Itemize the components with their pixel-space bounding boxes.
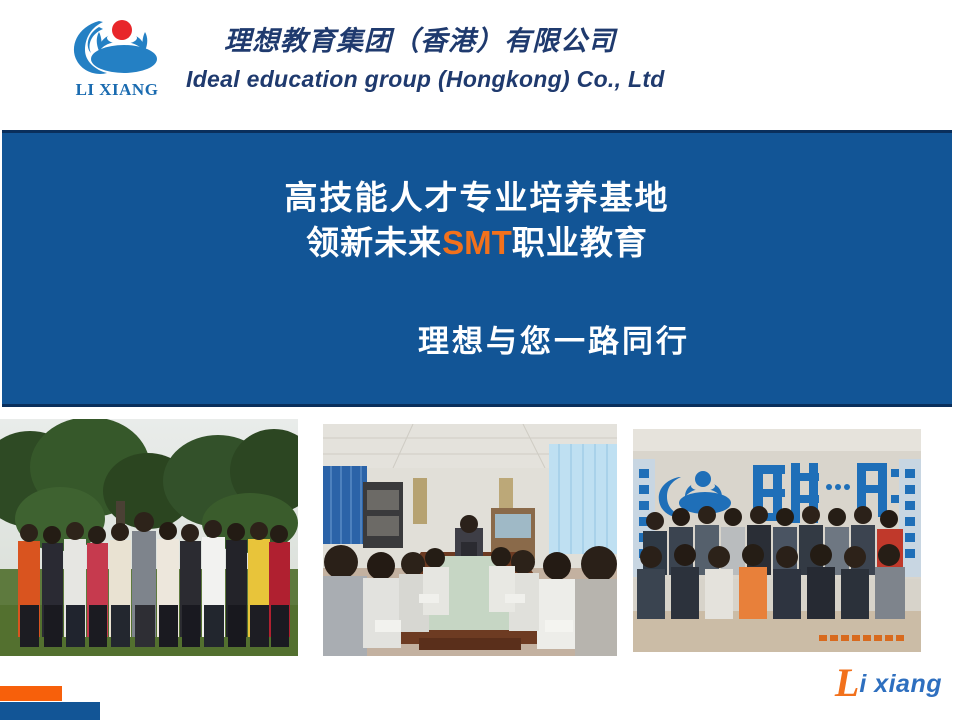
photo-campus xyxy=(0,419,298,656)
corner-accent-orange-bar-bottom xyxy=(0,686,62,701)
photo-staff xyxy=(633,429,921,652)
photo-meeting xyxy=(323,424,617,656)
banner-line2-suffix: 职业教育 xyxy=(512,224,648,261)
header-title-block: 理想教育集团（香港）有限公司 Ideal education group (Ho… xyxy=(186,24,826,95)
photo-meeting-image xyxy=(323,424,617,656)
page-header: LI XIANG 理想教育集团（香港）有限公司 Ideal education … xyxy=(0,0,960,128)
footer-brand-name: i xiang xyxy=(859,670,942,698)
li-xiang-logo-mark xyxy=(63,17,171,79)
banner-headline-line2: 领新未来SMT职业教育 xyxy=(2,220,952,265)
company-logo: LI XIANG xyxy=(63,17,171,105)
photo-strip xyxy=(0,419,960,659)
bottom-left-corner-decoration xyxy=(0,686,110,720)
footer-brand-initial: L xyxy=(835,660,859,705)
banner-line2-prefix: 领新未来 xyxy=(306,224,442,261)
main-banner: 高技能人才专业培养基地 领新未来SMT职业教育 理想与您一路同行 xyxy=(2,130,952,407)
logo-wordmark: LI XIANG xyxy=(63,80,171,100)
company-name-chinese: 理想教育集团（香港）有限公司 xyxy=(224,24,826,58)
footer-brand: Li xiang xyxy=(835,659,942,706)
banner-heading: 高技能人才专业培养基地 领新未来SMT职业教育 xyxy=(2,175,952,265)
company-name-english: Ideal education group (Hongkong) Co., Lt… xyxy=(186,63,826,95)
corner-accent-blue-bar-bottom xyxy=(0,702,100,720)
banner-headline-line1: 高技能人才专业培养基地 xyxy=(2,175,952,220)
banner-smt-highlight: SMT xyxy=(442,224,512,261)
photo-campus-image xyxy=(0,419,298,656)
photo-staff-image xyxy=(633,429,921,652)
banner-tagline: 理想与您一路同行 xyxy=(2,316,952,361)
